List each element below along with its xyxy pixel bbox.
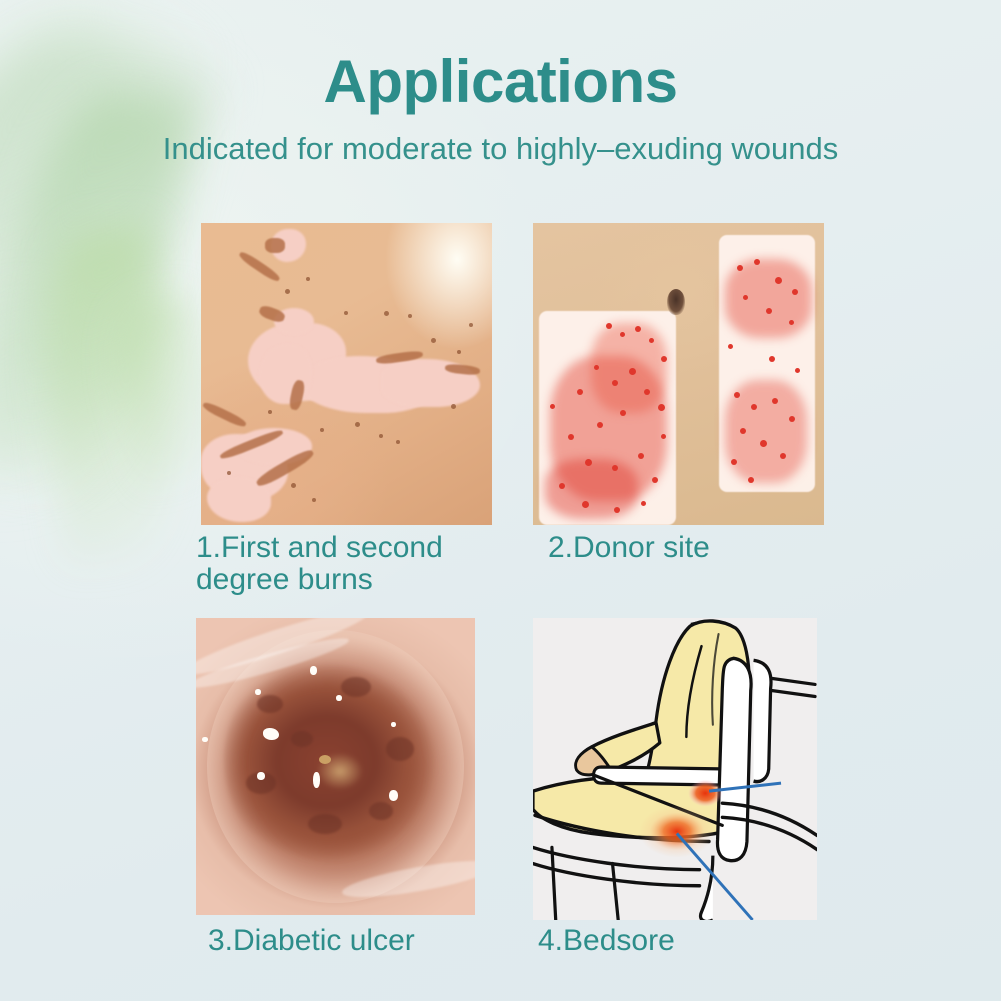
- application-image-burns: [201, 223, 492, 525]
- application-image-diabetic-ulcer: [196, 618, 475, 915]
- seated-person-chair-diagram: [533, 618, 817, 920]
- diabetic-ulcer-photo: [196, 618, 475, 915]
- page-subtitle: Indicated for moderate to highly–exuding…: [0, 132, 1001, 166]
- donor-site-photo: [533, 223, 824, 525]
- burn-photo: [201, 223, 492, 525]
- leaf-shape-icon: [31, 225, 185, 566]
- application-caption-burns: 1.First and second degree burns: [196, 532, 516, 596]
- leaf-shape-icon: [0, 271, 139, 529]
- application-image-donor-site: [533, 223, 824, 525]
- application-image-bedsore: [533, 618, 817, 920]
- page-title: Applications: [0, 52, 1001, 112]
- application-caption-bedsore: 4.Bedsore: [538, 925, 838, 957]
- application-caption-donor-site: 2.Donor site: [548, 532, 848, 564]
- applications-infographic: Applications Indicated for moderate to h…: [0, 0, 1001, 1001]
- bedsore-illustration: [533, 618, 817, 920]
- application-caption-diabetic-ulcer: 3.Diabetic ulcer: [208, 925, 528, 957]
